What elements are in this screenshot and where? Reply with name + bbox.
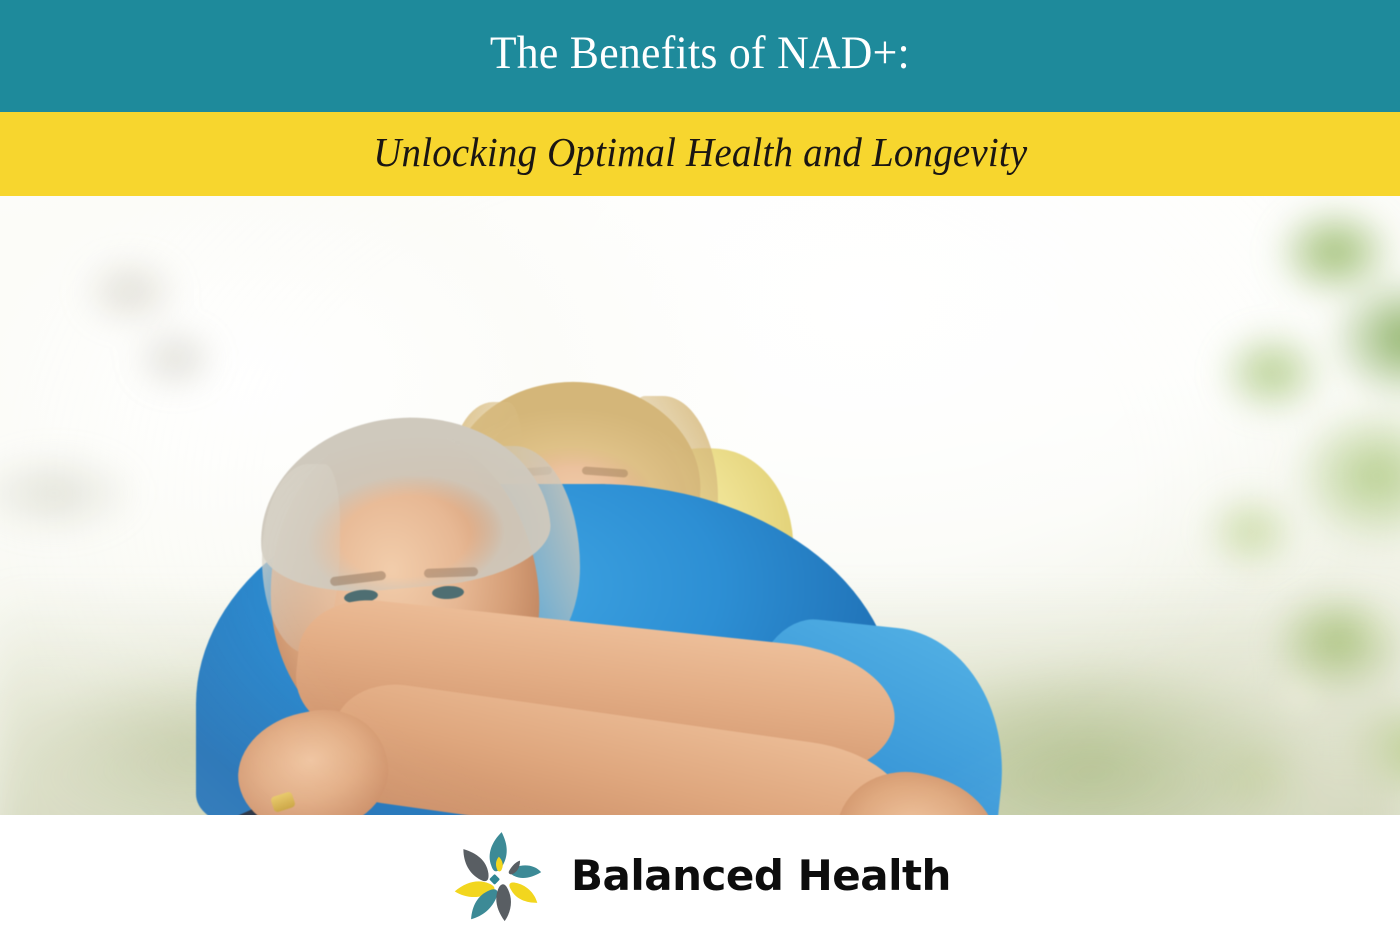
hero-photo (0, 196, 1400, 815)
brand-name: Balanced Health (571, 851, 951, 900)
man-eyebrow-right (424, 567, 478, 578)
footer-bar: Balanced Health (0, 815, 1400, 936)
page-subtitle: Unlocking Optimal Health and Longevity (373, 132, 1027, 176)
brand-lockup: Balanced Health (449, 828, 951, 924)
title-band: The Benefits of NAD+: (0, 0, 1400, 112)
page-title: The Benefits of NAD+: (490, 30, 910, 83)
subtitle-band: Unlocking Optimal Health and Longevity (0, 112, 1400, 196)
nad-benefits-cover: The Benefits of NAD+: Unlocking Optimal … (0, 0, 1400, 936)
balanced-health-flower-logo-icon (449, 828, 545, 924)
couple-subject (0, 196, 1400, 815)
